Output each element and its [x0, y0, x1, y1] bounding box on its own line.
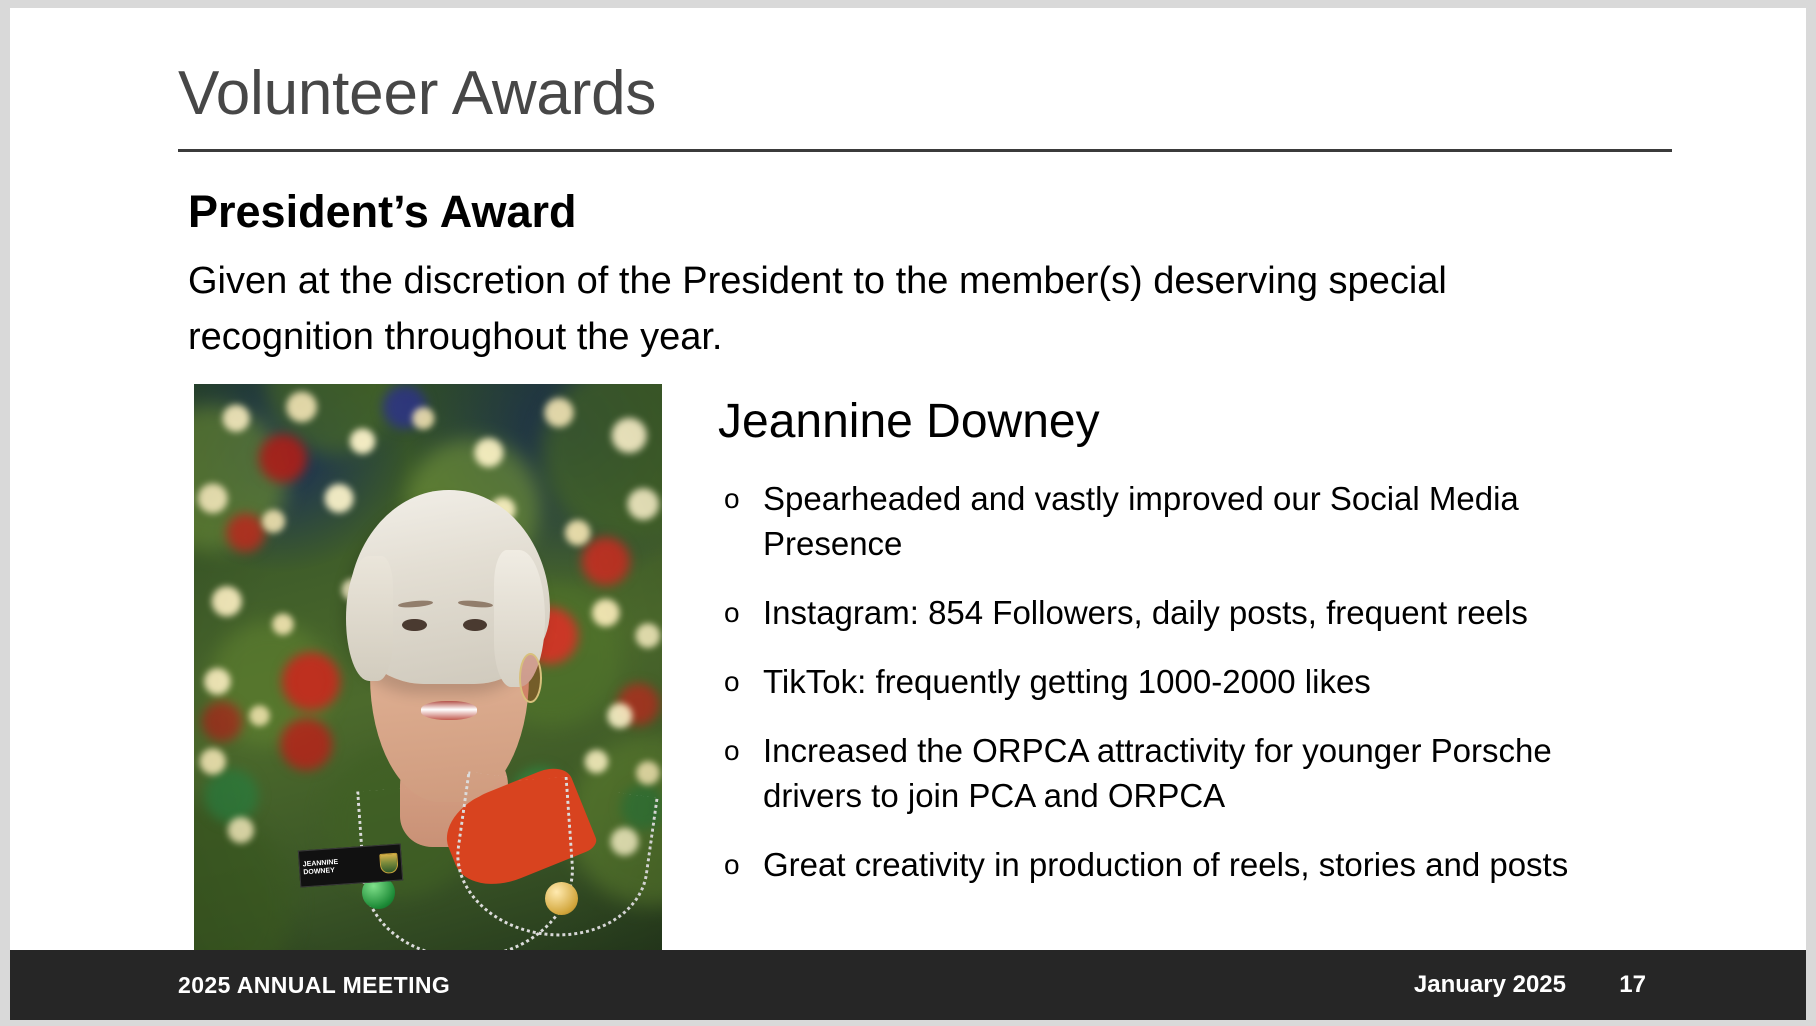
- circle-bullet-icon: o: [724, 659, 740, 704]
- slide-footer: 2025 ANNUAL MEETING January 2025 17: [10, 950, 1806, 1020]
- slide-page-frame: Volunteer Awards President’s Award Given…: [0, 0, 1816, 1026]
- list-item: o Instagram: 854 Followers, daily posts,…: [718, 590, 1618, 635]
- list-item-label: Increased the ORPCA attractivity for you…: [763, 732, 1552, 814]
- list-item: o Increased the ORPCA attractivity for y…: [718, 728, 1618, 818]
- recipient-achievements-list: o Spearheaded and vastly improved our So…: [718, 476, 1618, 911]
- circle-bullet-icon: o: [724, 476, 740, 521]
- name-badge: JEANNINE DOWNEY: [298, 844, 403, 888]
- list-item: o TikTok: frequently getting 1000-2000 l…: [718, 659, 1618, 704]
- circle-bullet-icon: o: [724, 728, 740, 773]
- page-title: Volunteer Awards: [178, 58, 656, 130]
- footer-page-number: 17: [1619, 950, 1646, 1020]
- list-item-label: Instagram: 854 Followers, daily posts, f…: [763, 594, 1528, 631]
- list-item-label: Spearheaded and vastly improved our Soci…: [763, 480, 1519, 562]
- recipient-name: Jeannine Downey: [718, 393, 1100, 451]
- list-item: o Spearheaded and vastly improved our So…: [718, 476, 1618, 566]
- award-heading: President’s Award: [188, 186, 576, 238]
- smiling-mouth: [421, 701, 477, 719]
- earring: [519, 653, 542, 703]
- jingle-bell-gold: [545, 882, 578, 915]
- name-badge-text: JEANNINE DOWNEY: [303, 856, 379, 877]
- title-underline-rule: [178, 149, 1672, 152]
- pca-crest-icon: [379, 853, 398, 874]
- eye-left: [402, 619, 426, 632]
- person-figure: JEANNINE DOWNEY: [194, 384, 662, 956]
- footer-date-label: January 2025: [1414, 950, 1566, 1020]
- footer-meeting-label: 2025 ANNUAL MEETING: [178, 950, 450, 1020]
- circle-bullet-icon: o: [724, 590, 740, 635]
- list-item-label: TikTok: frequently getting 1000-2000 lik…: [763, 663, 1371, 700]
- slide-canvas: Volunteer Awards President’s Award Given…: [10, 8, 1806, 1020]
- hair-left-side: [346, 556, 393, 682]
- circle-bullet-icon: o: [724, 842, 740, 887]
- list-item-label: Great creativity in production of reels,…: [763, 846, 1568, 883]
- award-description: Given at the discretion of the President…: [188, 253, 1588, 365]
- recipient-photo: JEANNINE DOWNEY: [194, 384, 662, 956]
- list-item: o Great creativity in production of reel…: [718, 842, 1618, 887]
